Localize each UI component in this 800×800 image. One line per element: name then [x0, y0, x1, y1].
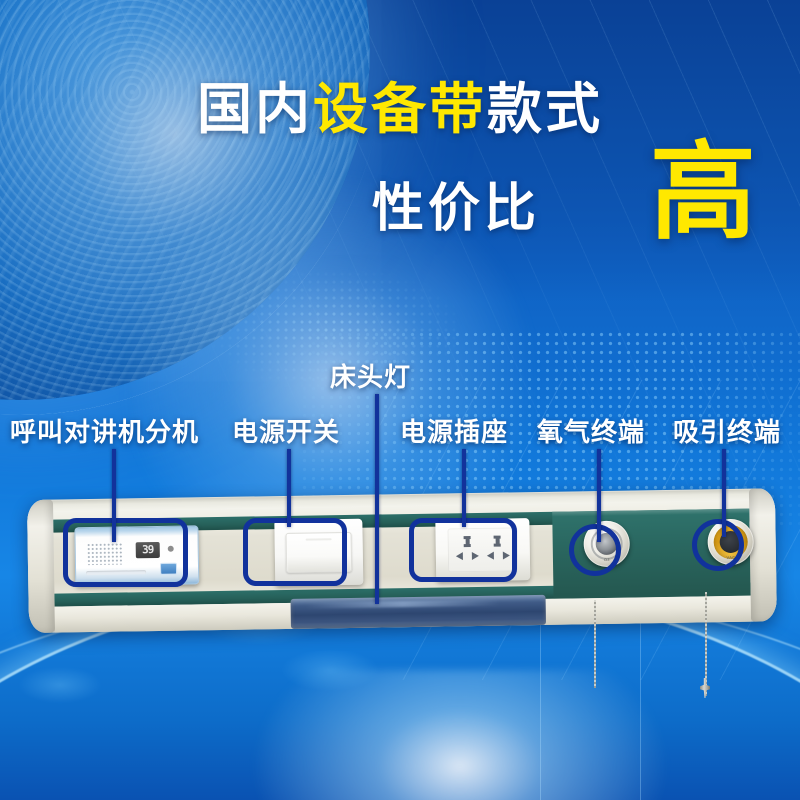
leader-line-power-socket [462, 449, 466, 527]
callout-layer: 呼叫对讲机分机 电源开关 床头灯 电源插座 氧气终端 吸引终端 [0, 0, 800, 800]
callout-label-bed-lamp: 床头灯 [330, 357, 411, 394]
leader-line-power-switch [287, 449, 291, 527]
callout-label-oxygen: 氧气终端 [537, 412, 645, 449]
leader-line-bed-lamp [375, 394, 379, 604]
callout-label-power-socket: 电源插座 [400, 412, 508, 449]
leader-line-intercom [112, 449, 116, 542]
callout-label-power-switch: 电源开关 [232, 412, 340, 449]
leader-line-suction [722, 449, 726, 537]
leader-line-oxygen [597, 449, 601, 542]
callout-label-suction: 吸引终端 [673, 412, 781, 449]
callout-label-intercom: 呼叫对讲机分机 [10, 412, 199, 449]
